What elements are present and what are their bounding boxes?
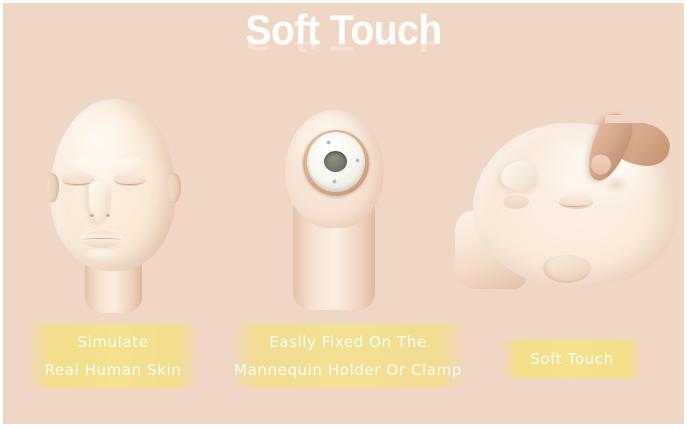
page-title-reflection: Soft Touch	[27, 22, 660, 55]
eyelash-line	[561, 202, 588, 207]
mannequin-head-soft-touch-image	[455, 115, 684, 313]
caption-line-2: Real Human Skin	[45, 356, 182, 384]
brow-side-shape	[553, 177, 593, 189]
screw-icon	[333, 180, 336, 183]
left-brow-shape	[63, 157, 96, 170]
mannequin-head-mount-image	[261, 110, 407, 310]
mannequin-head-front-image	[36, 99, 191, 314]
caption-line-2: Mannequin Holder Or Clamp	[234, 356, 462, 384]
cheek-press-dimple	[603, 175, 629, 193]
image-crop-edge	[605, 115, 684, 123]
chin-highlight	[82, 249, 120, 262]
page-title: Soft Touch	[245, 7, 441, 53]
feature-caption-simulate-real-human-skin: Simulate Real Human Skin	[26, 324, 200, 388]
nose-side-shape	[501, 161, 539, 191]
banner-title-block: Soft Touch Soft Touch	[3, 7, 684, 95]
screw-icon	[327, 141, 330, 144]
banner-canvas: Soft Touch Soft Touch	[3, 3, 684, 424]
fingertip-shape	[588, 152, 614, 178]
caption-line-1: Easily Fixed On The	[269, 328, 426, 356]
caption-line-1: Simulate	[77, 328, 148, 356]
right-ear-shape	[168, 173, 181, 203]
eyelash-line	[116, 180, 143, 185]
right-brow-shape	[112, 157, 145, 170]
eye-side-closed	[559, 193, 593, 209]
right-eye-closed	[114, 171, 146, 186]
product-feature-banner: Soft Touch Soft Touch	[0, 0, 687, 429]
right-nostril	[106, 214, 110, 217]
caption-line-1: Soft Touch	[530, 348, 613, 370]
screw-icon	[356, 159, 359, 162]
feature-caption-easily-fixed: Easily Fixed On The Mannequin Holder Or …	[229, 324, 467, 388]
left-nostril	[90, 214, 94, 217]
feature-caption-soft-touch: Soft Touch	[502, 340, 642, 378]
lip-line	[82, 238, 121, 241]
mount-socket-hole	[324, 151, 347, 172]
eyelash-line	[64, 180, 91, 185]
